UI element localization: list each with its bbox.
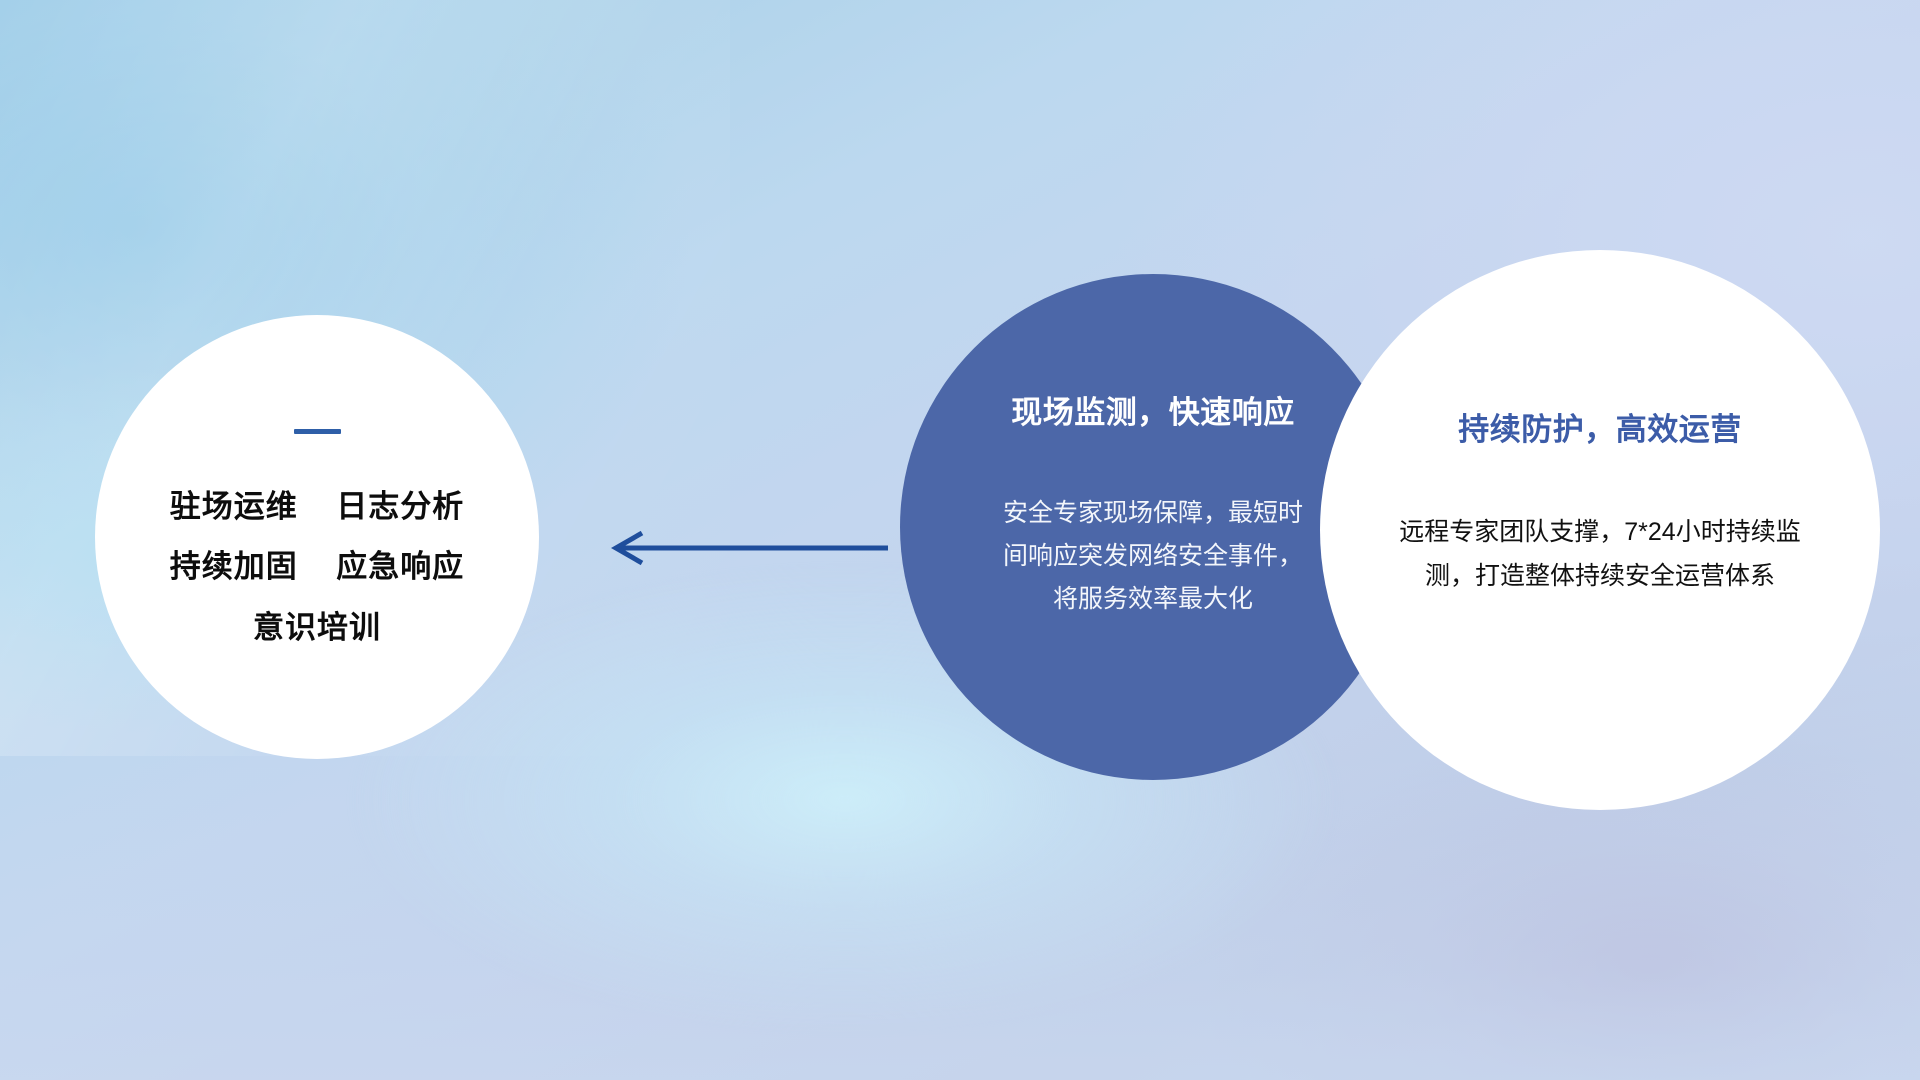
left-circle-tag-lines: 驻场运维 日志分析 持续加固 应急响应 意识培训 [170,490,464,644]
right-circle-body: 远程专家团队支撑，7*24小时持续监测，打造整体持续安全运营体系 [1380,511,1820,598]
center-circle-body: 安全专家现场保障，最短时间响应突发网络安全事件，将服务效率最大化 [995,492,1311,621]
left-circle-line-1: 驻场运维 日志分析 [170,490,464,524]
arrow-left-icon [600,520,890,576]
left-circle-line-3: 意识培训 [253,611,381,645]
center-circle-title: 现场监测，快速响应 [1011,387,1295,432]
left-circle-white[interactable]: 驻场运维 日志分析 持续加固 应急响应 意识培训 [95,315,539,759]
right-circle-title: 持续防护，高效运营 [1458,404,1742,449]
right-circle-white[interactable]: 持续防护，高效运营 远程专家团队支撑，7*24小时持续监测，打造整体持续安全运营… [1320,250,1880,810]
slide-canvas: 现场监测，快速响应 安全专家现场保障，最短时间响应突发网络安全事件，将服务效率最… [0,0,1920,1080]
divider-dash-icon [294,429,341,434]
left-circle-line-2: 持续加固 应急响应 [170,550,464,584]
right-circle-content: 持续防护，高效运营 远程专家团队支撑，7*24小时持续监测，打造整体持续安全运营… [1320,250,1880,810]
left-circle-content: 驻场运维 日志分析 持续加固 应急响应 意识培训 [95,315,539,759]
